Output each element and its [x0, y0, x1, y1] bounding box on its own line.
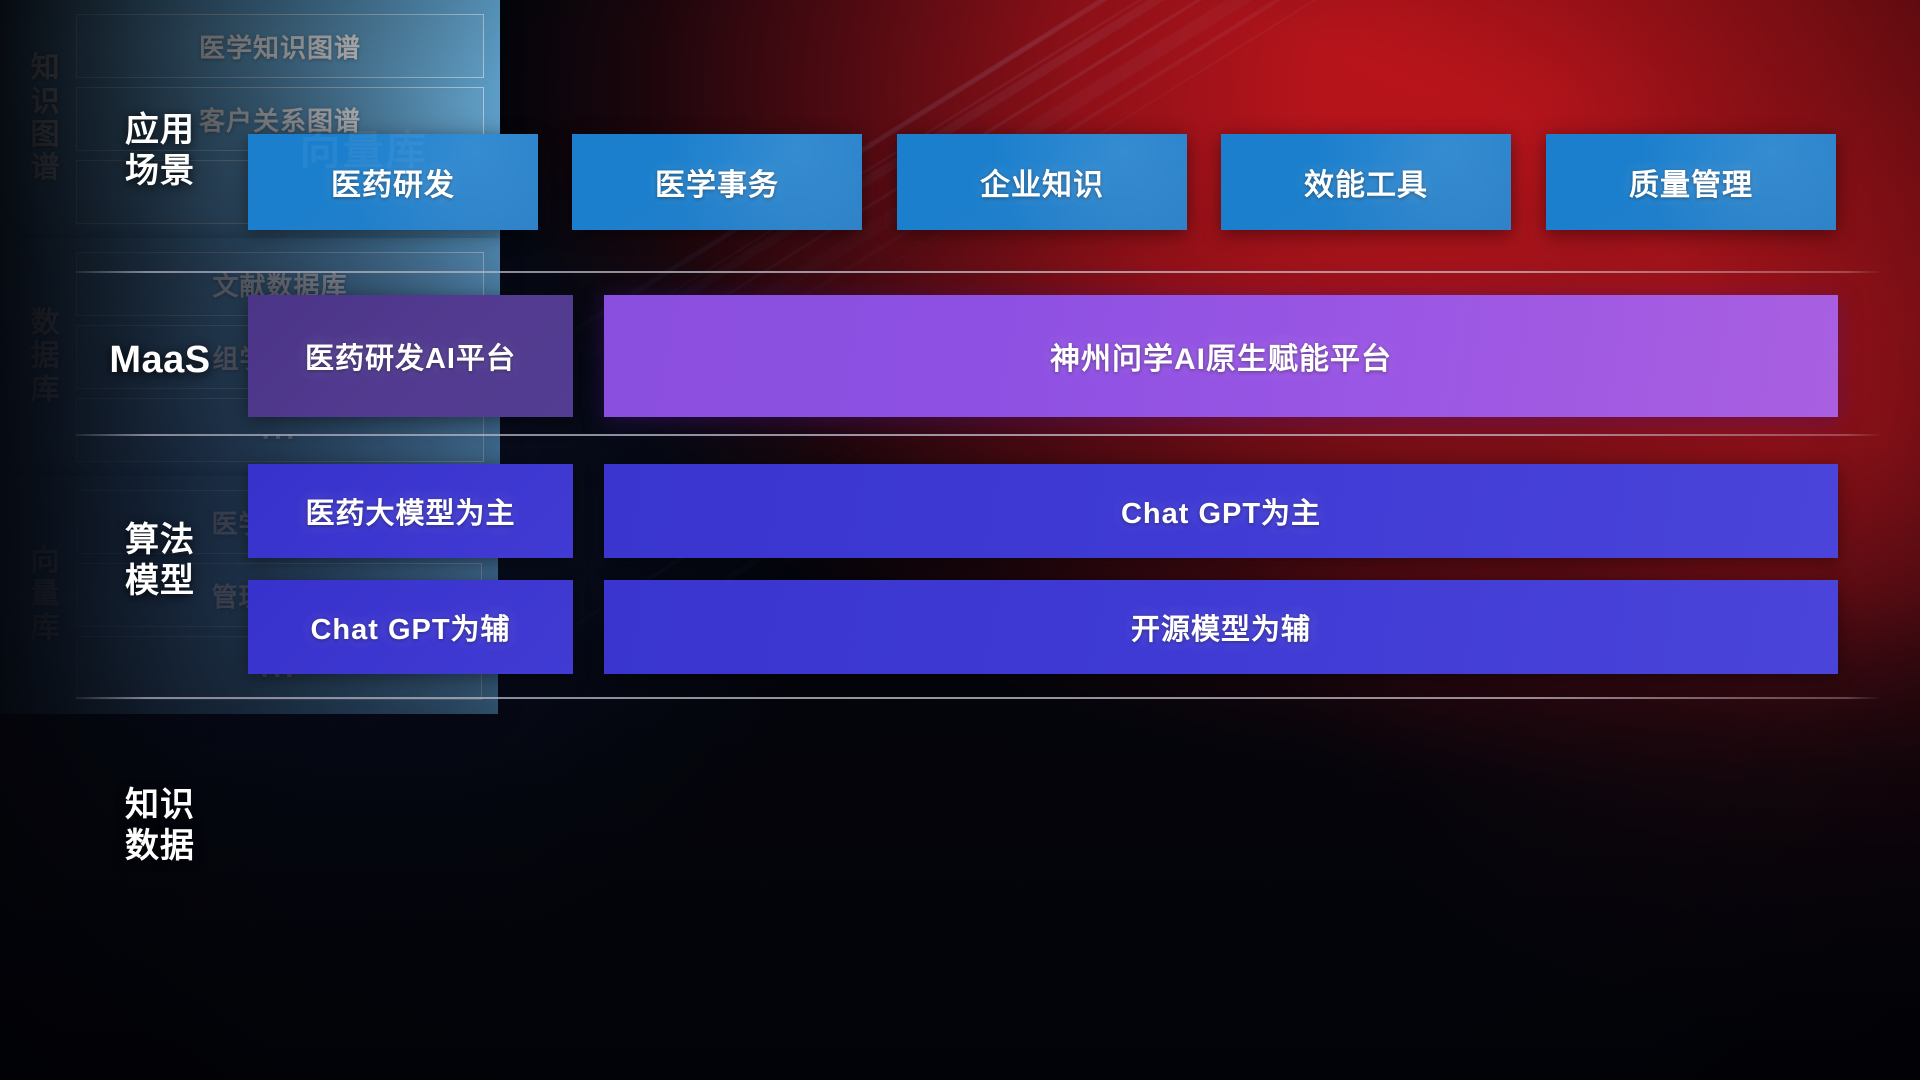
tier-label-line-1: MaaS: [76, 337, 244, 383]
algo-card-opensource-secondary[interactable]: 开源模型为辅: [604, 580, 1838, 674]
app-card-efficiency-tools[interactable]: 效能工具: [1221, 134, 1511, 230]
side-label-char: 库: [14, 374, 76, 407]
algo-card-label: 医药大模型为主: [305, 490, 515, 532]
tier-label-knowledge-data: 知识 数据: [76, 785, 244, 868]
side-label-char: 据: [14, 340, 76, 373]
side-label-char: 图: [14, 119, 76, 152]
tier-label-line-1: 应用: [76, 110, 244, 151]
app-card-medical-affairs[interactable]: 医学事务: [572, 134, 862, 230]
maas-card-label: 神州问学AI原生赋能平台: [1050, 334, 1392, 378]
side-label-char: 知: [14, 52, 76, 85]
maas-card-pharma-ai-platform[interactable]: 医药研发AI平台: [248, 295, 573, 417]
tier-label-line-2: 场景: [76, 151, 244, 192]
maas-card-shenzhou-wenxue-platform[interactable]: 神州问学AI原生赋能平台: [604, 295, 1838, 417]
algo-card-label: 开源模型为辅: [1131, 606, 1311, 648]
maas-card-label: 医药研发AI平台: [305, 335, 516, 377]
side-label-char: 量: [14, 578, 76, 611]
side-label-char: 数: [14, 307, 76, 340]
knowledge-group-side-label: 向 量 库: [14, 545, 76, 645]
app-card-label: 企业知识: [980, 160, 1104, 204]
algo-card-label: Chat GPT为辅: [310, 606, 510, 648]
knowledge-group-side-label: 数 据 库: [14, 307, 76, 407]
divider-after-algorithm-model: [76, 697, 1882, 699]
app-card-quality-management[interactable]: 质量管理: [1546, 134, 1836, 230]
tier-label-line-2: 模型: [76, 561, 244, 602]
app-card-medicine-rd[interactable]: 医药研发: [248, 134, 538, 230]
app-card-label: 质量管理: [1629, 160, 1753, 204]
app-card-enterprise-knowledge[interactable]: 企业知识: [897, 134, 1187, 230]
tier-label-line-1: 知识: [76, 785, 244, 826]
algo-card-pharma-llm-primary[interactable]: 医药大模型为主: [248, 464, 573, 558]
side-label-char: 谱: [14, 152, 76, 185]
knowledge-group-side-label: 知 识 图 谱: [14, 52, 76, 185]
tier-label-algorithm-model: 算法 模型: [76, 520, 244, 603]
algo-card-label: Chat GPT为主: [1121, 490, 1321, 532]
side-label-char: 库: [14, 612, 76, 645]
diagram-canvas: 应用 场景 医药研发 医学事务 企业知识 效能工具 质量管理 MaaS 医药研发…: [0, 0, 1920, 1080]
app-card-label: 医药研发: [331, 160, 455, 204]
divider-after-application-scenarios: [76, 271, 1882, 273]
side-label-char: 向: [14, 545, 76, 578]
knowledge-item[interactable]: 医学知识图谱: [76, 14, 484, 78]
tier-label-maas: MaaS: [76, 337, 244, 383]
tier-label-line-1: 算法: [76, 520, 244, 561]
tier-label-line-2: 数据: [76, 826, 244, 867]
tier-label-application-scenarios: 应用 场景: [76, 110, 244, 193]
algo-card-chatgpt-secondary[interactable]: Chat GPT为辅: [248, 580, 573, 674]
divider-after-maas: [76, 434, 1882, 436]
algo-card-chatgpt-primary[interactable]: Chat GPT为主: [604, 464, 1838, 558]
side-label-char: 识: [14, 86, 76, 119]
app-card-label: 医学事务: [655, 160, 779, 204]
app-card-label: 效能工具: [1304, 160, 1428, 204]
